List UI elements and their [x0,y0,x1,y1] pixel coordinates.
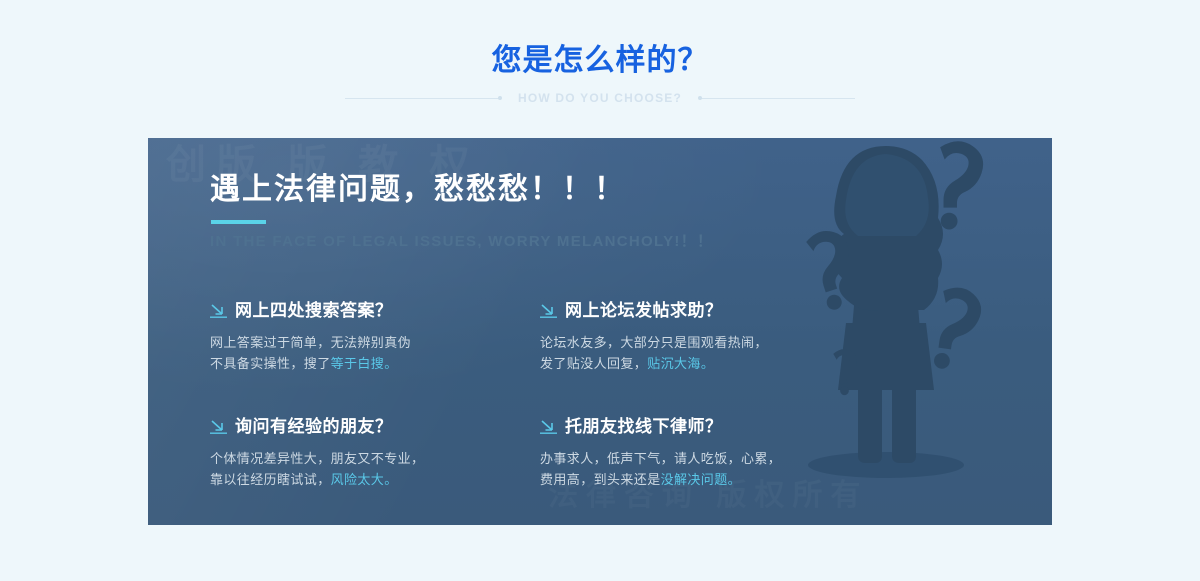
list-item-description: 办事求人，低声下气，请人吃饭，心累，费用高，到头来还是没解决问题。 [540,448,870,490]
list-item-heading-text: 询问有经验的朋友？ [235,416,393,438]
desc-line-2-suffix: 。 [384,472,397,487]
subtitle-row: HOW DO YOU CHOOSE? [0,91,1200,105]
section-header: 您是怎么样的？ HOW DO YOU CHOOSE? [0,42,1200,105]
desc-highlight: 没解决问题 [661,472,728,487]
list-item[interactable]: 网上四处搜索答案？网上答案过于简单，无法辨别真伪不具备实操性，搜了等于白搜。 [210,300,540,374]
content-panel: 创版 版 教 权 法律咨询 版权所有 [148,138,1052,525]
panel-heading-block: 遇上法律问题，愁愁愁！！！ IN THE FACE OF LEGAL ISSUE… [148,138,1052,252]
desc-highlight: 等于白搜 [331,356,385,371]
desc-line-1: 个体情况差异性大，朋友又不专业， [210,451,424,466]
desc-line-2-suffix: 。 [384,356,397,371]
desc-line-2-prefix: 不具备实操性，搜了 [210,356,331,371]
panel-title: 遇上法律问题，愁愁愁！！！ [210,170,1052,210]
accent-bar [211,220,266,224]
list-item-heading[interactable]: 网上四处搜索答案？ [210,300,540,322]
list-item-heading[interactable]: 询问有经验的朋友？ [210,416,540,438]
page-subtitle: HOW DO YOU CHOOSE? [500,91,700,105]
list-item[interactable]: 网上论坛发帖求助？论坛水友多，大部分只是围观看热闹，发了贴没人回复，贴沉大海。 [540,300,870,374]
desc-line-2-suffix: 。 [728,472,741,487]
list-item[interactable]: 询问有经验的朋友？个体情况差异性大，朋友又不专业，靠以往经历瞎试试，风险太大。 [210,416,540,490]
page-root: 您是怎么样的？ HOW DO YOU CHOOSE? 创版 版 教 权 法律咨询… [0,0,1200,581]
list-item[interactable]: 托朋友找线下律师？办事求人，低声下气，请人吃饭，心累，费用高，到头来还是没解决问… [540,416,870,490]
desc-line-1: 网上答案过于简单，无法辨别真伪 [210,335,411,350]
diagonal-arrow-icon [210,303,227,319]
pain-point-list: 网上四处搜索答案？网上答案过于简单，无法辨别真伪不具备实操性，搜了等于白搜。网上… [210,300,870,490]
desc-line-2-suffix: 。 [701,356,714,371]
desc-line-1: 办事求人，低声下气，请人吃饭，心累， [540,451,781,466]
desc-line-2-prefix: 发了贴没人回复， [540,356,647,371]
desc-highlight: 风险太大 [331,472,385,487]
diagonal-arrow-icon [540,419,557,435]
list-item-heading-text: 托朋友找线下律师？ [565,416,723,438]
list-item-heading[interactable]: 托朋友找线下律师？ [540,416,870,438]
page-title: 您是怎么样的？ [0,42,1200,80]
diagonal-arrow-icon [540,303,557,319]
desc-highlight: 贴沉大海 [647,356,701,371]
list-item-description: 个体情况差异性大，朋友又不专业，靠以往经历瞎试试，风险太大。 [210,448,540,490]
list-item-heading-text: 网上四处搜索答案？ [235,300,393,322]
desc-line-2-prefix: 费用高，到头来还是 [540,472,661,487]
divider-line-left [345,98,500,99]
panel-subtitle: IN THE FACE OF LEGAL ISSUES, WORRY MELAN… [210,232,1052,252]
desc-line-1: 论坛水友多，大部分只是围观看热闹， [540,335,768,350]
divider-line-right [700,98,855,99]
list-item-heading[interactable]: 网上论坛发帖求助？ [540,300,870,322]
list-item-heading-text: 网上论坛发帖求助？ [565,300,723,322]
diagonal-arrow-icon [210,419,227,435]
list-item-description: 网上答案过于简单，无法辨别真伪不具备实操性，搜了等于白搜。 [210,332,540,374]
desc-line-2-prefix: 靠以往经历瞎试试， [210,472,331,487]
list-item-description: 论坛水友多，大部分只是围观看热闹，发了贴没人回复，贴沉大海。 [540,332,870,374]
